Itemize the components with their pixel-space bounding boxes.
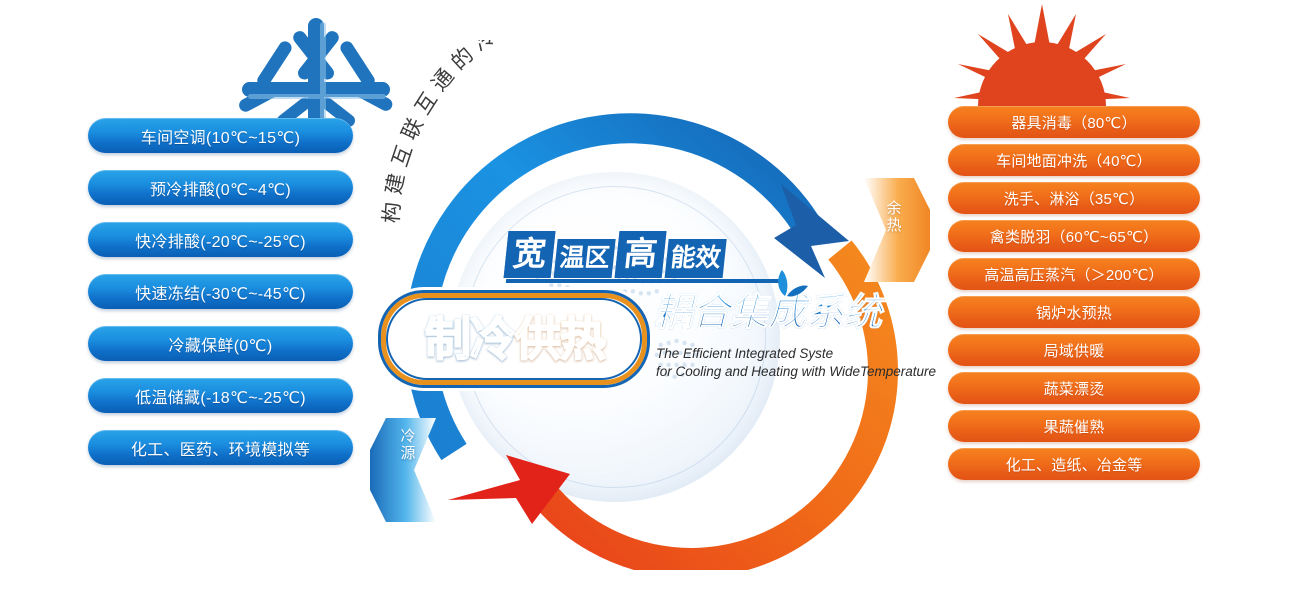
badge-cold-text: 制冷 xyxy=(425,309,515,369)
heat-application-item[interactable]: 局域供暖 xyxy=(948,334,1200,366)
cold-application-item-label: 预冷排酸(0℃~4℃) xyxy=(150,176,291,200)
cold-application-item-label: 快速冻结(-30℃~-45℃) xyxy=(135,280,306,304)
heat-application-item[interactable]: 车间地面冲洗（40℃） xyxy=(948,144,1200,176)
headline-keywords: 宽 温区 高 能效 xyxy=(504,232,728,278)
cold-application-item[interactable]: 预冷排酸(0℃~4℃) xyxy=(88,170,353,205)
heat-application-item[interactable]: 果蔬催熟 xyxy=(948,410,1200,442)
headline-part-1: 温区 xyxy=(554,239,616,278)
heat-application-item-label: 洗手、淋浴（35℃） xyxy=(1004,188,1145,209)
cold-application-item[interactable]: 车间空调(10℃~15℃) xyxy=(88,118,353,153)
brand-badge-text: 制冷 供热 xyxy=(395,303,635,375)
cold-application-item-label: 化工、医药、环境模拟等 xyxy=(131,436,310,460)
heat-application-item-label: 锅炉水预热 xyxy=(1036,302,1112,323)
heat-application-item[interactable]: 锅炉水预热 xyxy=(948,296,1200,328)
cold-application-item-label: 车间空调(10℃~15℃) xyxy=(141,124,300,148)
cold-application-item-label: 低温储藏(-18℃~-25℃) xyxy=(135,384,306,408)
heat-application-item-label: 禽类脱羽（60℃~65℃） xyxy=(990,226,1158,247)
english-subtitle-line-1: The Efficient Integrated Syste xyxy=(656,345,936,363)
heat-application-item-label: 果蔬催熟 xyxy=(1044,416,1105,437)
heat-application-item[interactable]: 高温高压蒸汽（＞200℃） xyxy=(948,258,1200,290)
heat-application-item[interactable]: 化工、造纸、冶金等 xyxy=(948,448,1200,480)
cold-application-item[interactable]: 快速冻结(-30℃~-45℃) xyxy=(88,274,353,309)
heat-application-item[interactable]: 器具消毒（80℃） xyxy=(948,106,1200,138)
cold-application-item[interactable]: 快冷排酸(-20℃~-25℃) xyxy=(88,222,353,257)
heat-application-item-label: 器具消毒（80℃） xyxy=(1011,112,1136,133)
heat-application-item-label: 局域供暖 xyxy=(1044,340,1105,361)
cold-application-item-label: 快冷排酸(-20℃~-25℃) xyxy=(135,228,306,252)
english-subtitle-line-2: for Cooling and Heating with WideTempera… xyxy=(656,363,936,381)
headline-part-0: 宽 xyxy=(504,231,556,278)
heat-application-item-label: 车间地面冲洗（40℃） xyxy=(996,150,1152,171)
cold-application-item[interactable]: 化工、医药、环境模拟等 xyxy=(88,430,353,465)
heat-application-list: 器具消毒（80℃）车间地面冲洗（40℃）洗手、淋浴（35℃）禽类脱羽（60℃~6… xyxy=(948,106,1200,486)
sun-icon xyxy=(952,2,1132,112)
infographic-canvas: 构建互联互通的冷热世界 余热 冷源 宽 温区 高 能效 制冷 供热 耦合集成系统… xyxy=(0,0,1300,590)
cold-flow-label: 冷源 xyxy=(399,428,417,462)
cold-application-item[interactable]: 低温储藏(-18℃~-25℃) xyxy=(88,378,353,413)
heat-application-item-label: 高温高压蒸汽（＞200℃） xyxy=(984,264,1163,285)
headline-underline xyxy=(506,279,782,283)
headline-part-2: 高 xyxy=(615,231,667,278)
badge-heat-text: 供热 xyxy=(515,309,605,369)
heat-flow-label: 余热 xyxy=(885,200,903,234)
brand-badge: 制冷 供热 xyxy=(378,290,650,388)
center-logo-block: 宽 温区 高 能效 制冷 供热 耦合集成系统 The Efficient Int… xyxy=(378,232,938,397)
heat-application-item-label: 化工、造纸、冶金等 xyxy=(1006,454,1143,475)
leaf-icon xyxy=(768,268,808,298)
cold-application-item[interactable]: 冷藏保鲜(0℃) xyxy=(88,326,353,361)
english-subtitle: The Efficient Integrated Syste for Cooli… xyxy=(656,345,936,381)
heat-application-item[interactable]: 蔬菜漂烫 xyxy=(948,372,1200,404)
arc-slogan-text: 构建互联互通的冷热世界 xyxy=(380,40,581,224)
heat-application-item[interactable]: 禽类脱羽（60℃~65℃） xyxy=(948,220,1200,252)
cold-application-list: 车间空调(10℃~15℃)预冷排酸(0℃~4℃)快冷排酸(-20℃~-25℃)快… xyxy=(88,118,353,482)
cold-application-item-label: 冷藏保鲜(0℃) xyxy=(169,332,273,356)
headline-part-3: 能效 xyxy=(665,239,727,278)
heat-application-item[interactable]: 洗手、淋浴（35℃） xyxy=(948,182,1200,214)
heat-application-item-label: 蔬菜漂烫 xyxy=(1044,378,1105,399)
